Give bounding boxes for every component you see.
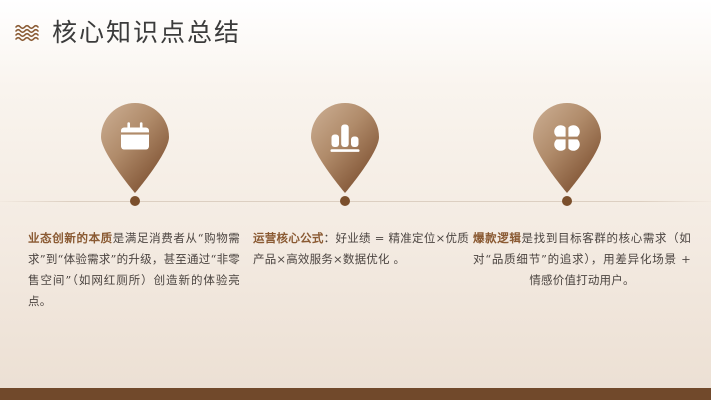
calendar-icon <box>117 120 153 156</box>
content-column-3: 爆款逻辑是找到目标客群的核心需求（如对“品质细节”的追求），用差异化场景 + 情… <box>473 216 691 302</box>
pin-marker-3[interactable] <box>529 101 605 193</box>
page-title: 核心知识点总结 <box>52 20 241 45</box>
clover-icon <box>549 120 585 156</box>
pin-marker-1[interactable] <box>97 101 173 193</box>
column-2-paragraph: 运营核心公式：好业绩 = 精准定位×优质产品×高效服务×数据优化 。 <box>253 228 469 270</box>
timeline-dot-3 <box>562 196 572 206</box>
column-3-paragraph: 爆款逻辑是找到目标客群的核心需求（如对“品质细节”的追求），用差异化场景 + 情… <box>473 228 691 291</box>
timeline-dot-2 <box>340 196 350 206</box>
column-2-lead: 运营核心公式 <box>253 231 324 245</box>
pin-marker-2[interactable] <box>307 101 383 193</box>
timeline-dot-1 <box>130 196 140 206</box>
column-1-lead: 业态创新的本质 <box>28 231 113 245</box>
content-column-2: 运营核心公式：好业绩 = 精准定位×优质产品×高效服务×数据优化 。 <box>253 216 469 281</box>
slide-canvas: 核心知识点总结 <box>0 0 711 400</box>
column-3-lead: 爆款逻辑 <box>473 231 522 245</box>
slide-header: 核心知识点总结 <box>0 10 711 54</box>
timeline-rule <box>0 201 711 202</box>
footer-accent-bar <box>0 388 711 400</box>
column-1-paragraph: 业态创新的本质是满足消费者从“购物需求”到“体验需求”的升级，甚至通过“非零售空… <box>28 228 240 312</box>
content-column-1: 业态创新的本质是满足消费者从“购物需求”到“体验需求”的升级，甚至通过“非零售空… <box>28 216 240 323</box>
wave-lines-icon <box>14 22 44 42</box>
bar-chart-icon <box>327 120 363 156</box>
